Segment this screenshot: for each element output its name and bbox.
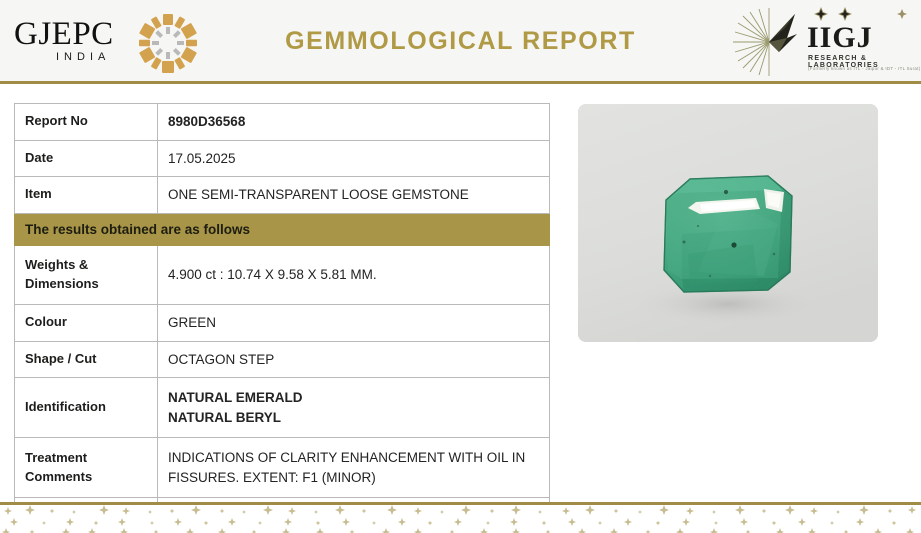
table-row: Weights & Dimensions 4.900 ct : 10.74 X … [15, 246, 550, 305]
table-row: Identification NATURAL EMERALD NATURAL B… [15, 378, 550, 438]
report-header: GJEPC INDIA [0, 0, 921, 84]
row-value-colour: GREEN [158, 304, 550, 341]
row-value-shape-cut: OCTAGON STEP [158, 341, 550, 378]
results-banner-row: The results obtained are as follows [15, 213, 550, 246]
results-banner-text: The results obtained are as follows [15, 213, 550, 246]
row-value-treatment-comments: INDICATIONS OF CLARITY ENHANCEMENT WITH … [158, 438, 550, 498]
table-row: Shape / Cut OCTAGON STEP [15, 341, 550, 378]
row-value-report-no: 8980D36568 [158, 104, 550, 141]
table-row: Treatment Comments INDICATIONS OF CLARIT… [15, 438, 550, 498]
row-value-weights-dimensions: 4.900 ct : 10.74 X 9.58 X 5.81 MM. [158, 246, 550, 305]
row-label-item: Item [15, 177, 158, 214]
identification-line-1: NATURAL EMERALD [168, 388, 539, 408]
row-label-report-no: Report No [15, 104, 158, 141]
gemstone-photo [578, 104, 878, 342]
table-row: Date 17.05.2025 [15, 140, 550, 177]
table-row: Colour GREEN [15, 304, 550, 341]
footer-ornament-band [0, 505, 921, 533]
table-row: Item ONE SEMI-TRANSPARENT LOOSE GEMSTONE [15, 177, 550, 214]
row-value-date: 17.05.2025 [158, 140, 550, 177]
iigj-fine-print: (Formerly known as ITL - Jaipur & IDT - … [808, 66, 920, 71]
iigj-logo: IIGJ RESEARCH & LABORATORIES (Formerly k… [727, 4, 913, 78]
row-value-item: ONE SEMI-TRANSPARENT LOOSE GEMSTONE [158, 177, 550, 214]
row-label-date: Date [15, 140, 158, 177]
row-value-identification: NATURAL EMERALD NATURAL BERYL [158, 378, 550, 438]
identification-line-2: NATURAL BERYL [168, 408, 539, 428]
row-label-identification: Identification [15, 378, 158, 438]
row-label-shape-cut: Shape / Cut [15, 341, 158, 378]
starburst-gem-logo-icon [729, 8, 803, 76]
iigj-wordmark: IIGJ [807, 21, 873, 55]
sparkle-star-icon [807, 6, 911, 22]
table-row: Report No 8980D36568 [15, 104, 550, 141]
gemmological-report-page: GJEPC INDIA [0, 0, 921, 533]
report-details-table: Report No 8980D36568 Date 17.05.2025 Ite… [14, 103, 550, 533]
row-label-colour: Colour [15, 304, 158, 341]
row-label-weights-dimensions: Weights & Dimensions [15, 246, 158, 305]
row-label-treatment-comments: Treatment Comments [15, 438, 158, 498]
